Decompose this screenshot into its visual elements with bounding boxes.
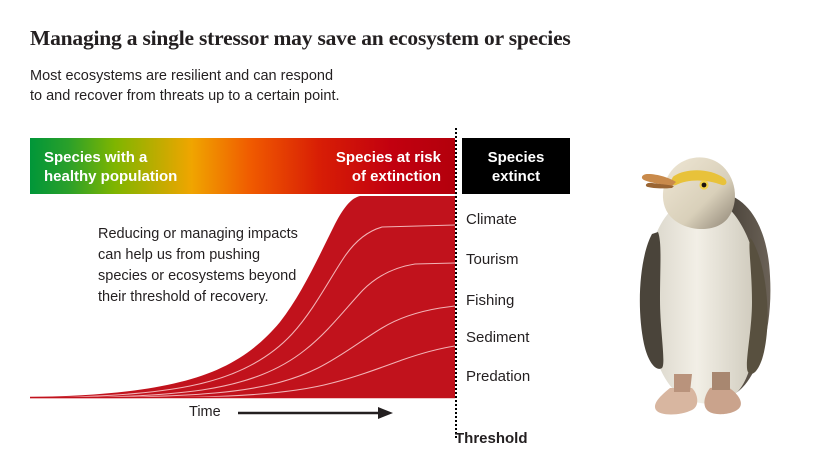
page-subtitle: Most ecosystems are resilient and can re… xyxy=(30,66,340,106)
yellow-eyed-penguin-illustration xyxy=(600,130,820,430)
band-label-healthy: Species with a healthy population xyxy=(44,148,274,186)
stressor-label-tourism: Tourism xyxy=(466,251,519,268)
penguin-pupil xyxy=(702,183,707,188)
time-arrow-icon xyxy=(238,406,393,420)
penguin-flipper-left xyxy=(640,232,664,369)
penguin-head xyxy=(663,157,735,229)
stressor-label-predation: Predation xyxy=(466,368,530,385)
stressor-label-climate: Climate xyxy=(466,211,517,228)
band-label-at-risk: Species at risk of extinction xyxy=(245,148,441,186)
threshold-caption: Threshold xyxy=(455,430,528,447)
threshold-line xyxy=(455,128,457,438)
stressor-label-fishing: Fishing xyxy=(466,292,514,309)
page-title: Managing a single stressor may save an e… xyxy=(30,26,571,51)
penguin-leg-left xyxy=(674,374,692,392)
band-label-extinct: Species extinct xyxy=(462,148,570,186)
penguin-leg-right xyxy=(712,372,730,390)
infographic-root: Managing a single stressor may save an e… xyxy=(0,0,820,461)
callout-text: Reducing or managing impacts can help us… xyxy=(98,224,368,308)
time-axis-label: Time xyxy=(189,404,221,420)
stressor-label-sediment: Sediment xyxy=(466,329,529,346)
